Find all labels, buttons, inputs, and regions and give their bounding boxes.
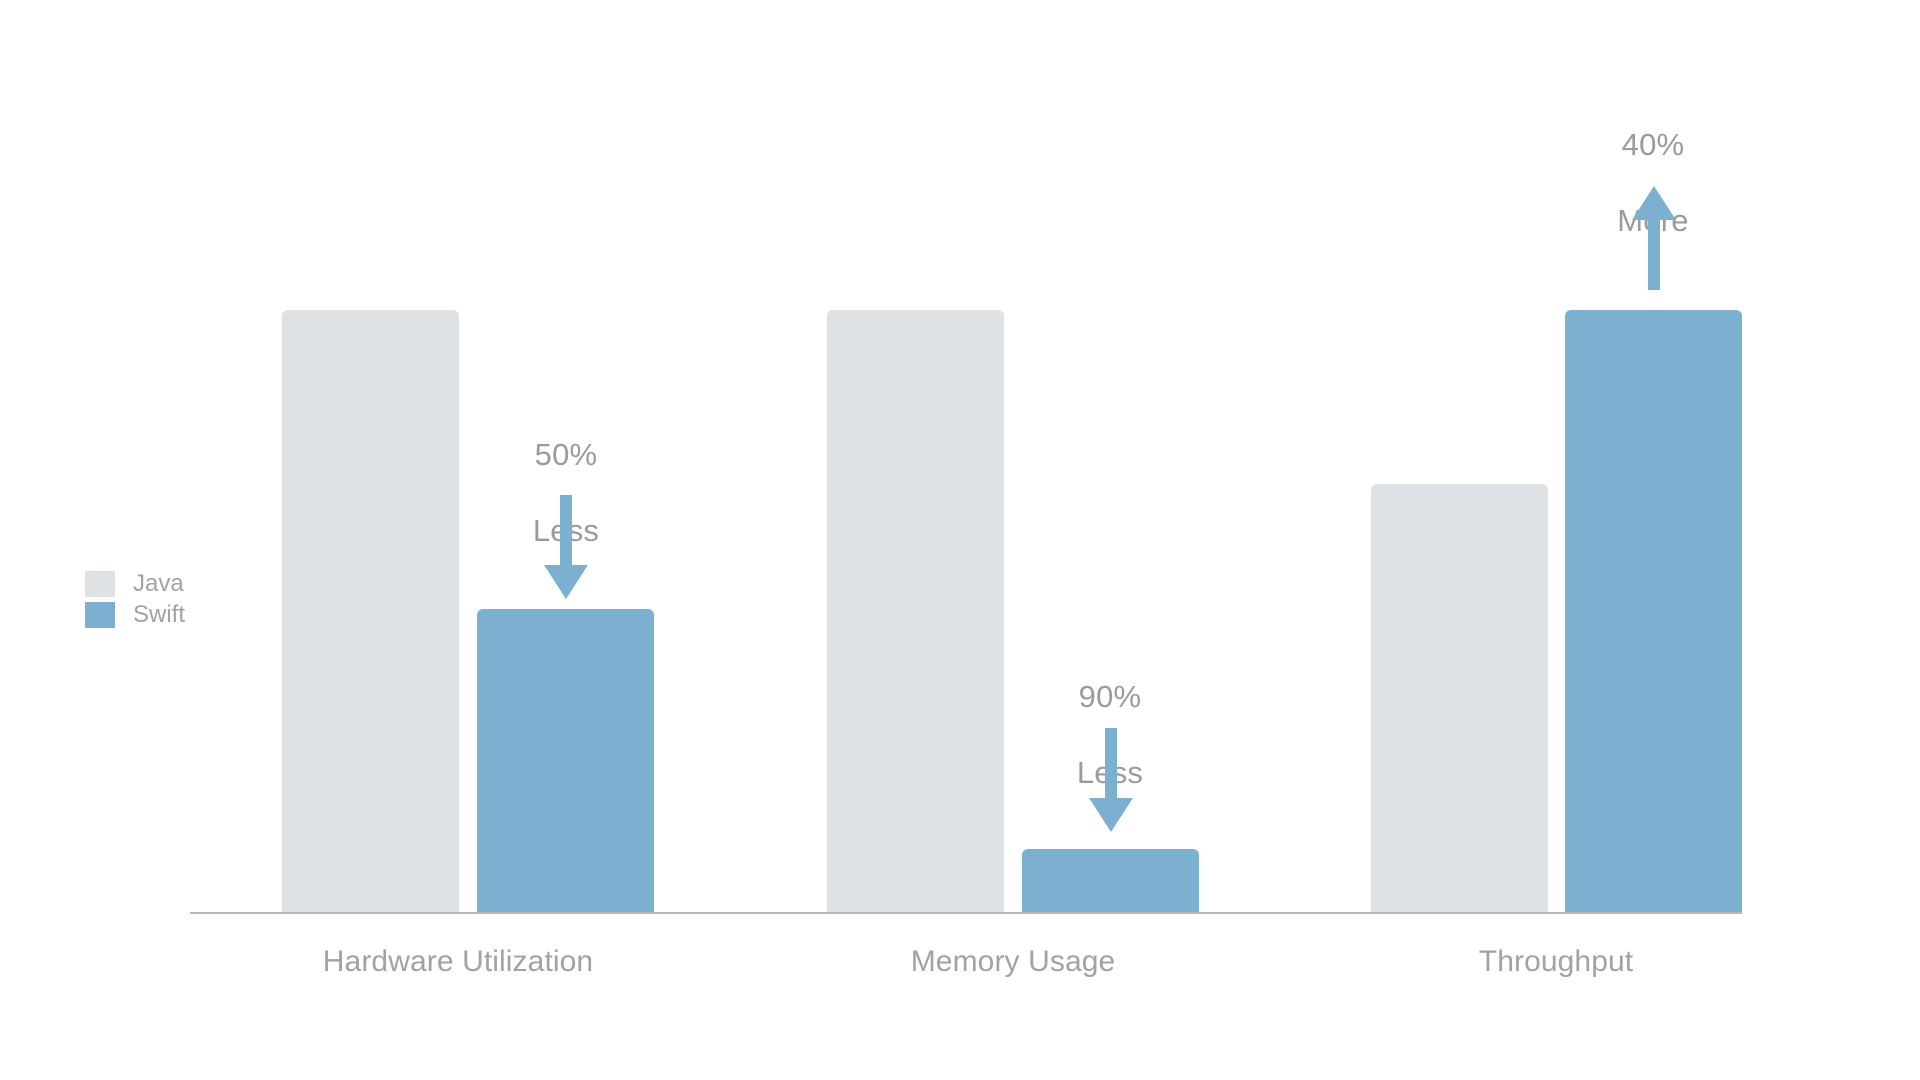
category-label-throughput: Throughput	[1366, 944, 1746, 980]
bar-swift-hardware-utilization	[477, 609, 654, 912]
annotation-value: 40%	[1573, 126, 1733, 164]
annotation-value: 90%	[1030, 678, 1190, 716]
legend-item-java[interactable]: Java	[85, 568, 185, 599]
category-label-memory-usage: Memory Usage	[823, 944, 1203, 980]
legend-label-swift: Swift	[133, 602, 185, 628]
chart-legend: Java Swift	[85, 568, 185, 630]
bar-swift-memory-usage	[1022, 849, 1199, 912]
legend-swatch-icon-swift	[85, 602, 115, 628]
plot-area: 50% Less Hardware Utilization 90% Less M…	[0, 0, 1920, 1080]
bar-java-throughput	[1371, 484, 1548, 912]
arrow-up-icon-throughput	[1632, 186, 1676, 290]
chart-container: 50% Less Hardware Utilization 90% Less M…	[0, 0, 1920, 1080]
annotation-value: 50%	[486, 436, 646, 474]
bar-swift-throughput	[1565, 310, 1742, 912]
bar-java-hardware-utilization	[282, 310, 459, 912]
category-label-hardware-utilization: Hardware Utilization	[268, 944, 648, 980]
arrow-down-icon-memory-usage	[1089, 728, 1133, 832]
bar-java-memory-usage	[827, 310, 1004, 912]
x-axis-line	[190, 912, 1742, 914]
arrow-down-icon-hardware-utilization	[544, 495, 588, 599]
legend-label-java: Java	[133, 571, 184, 597]
legend-item-swift[interactable]: Swift	[85, 599, 185, 630]
legend-swatch-icon-java	[85, 571, 115, 597]
